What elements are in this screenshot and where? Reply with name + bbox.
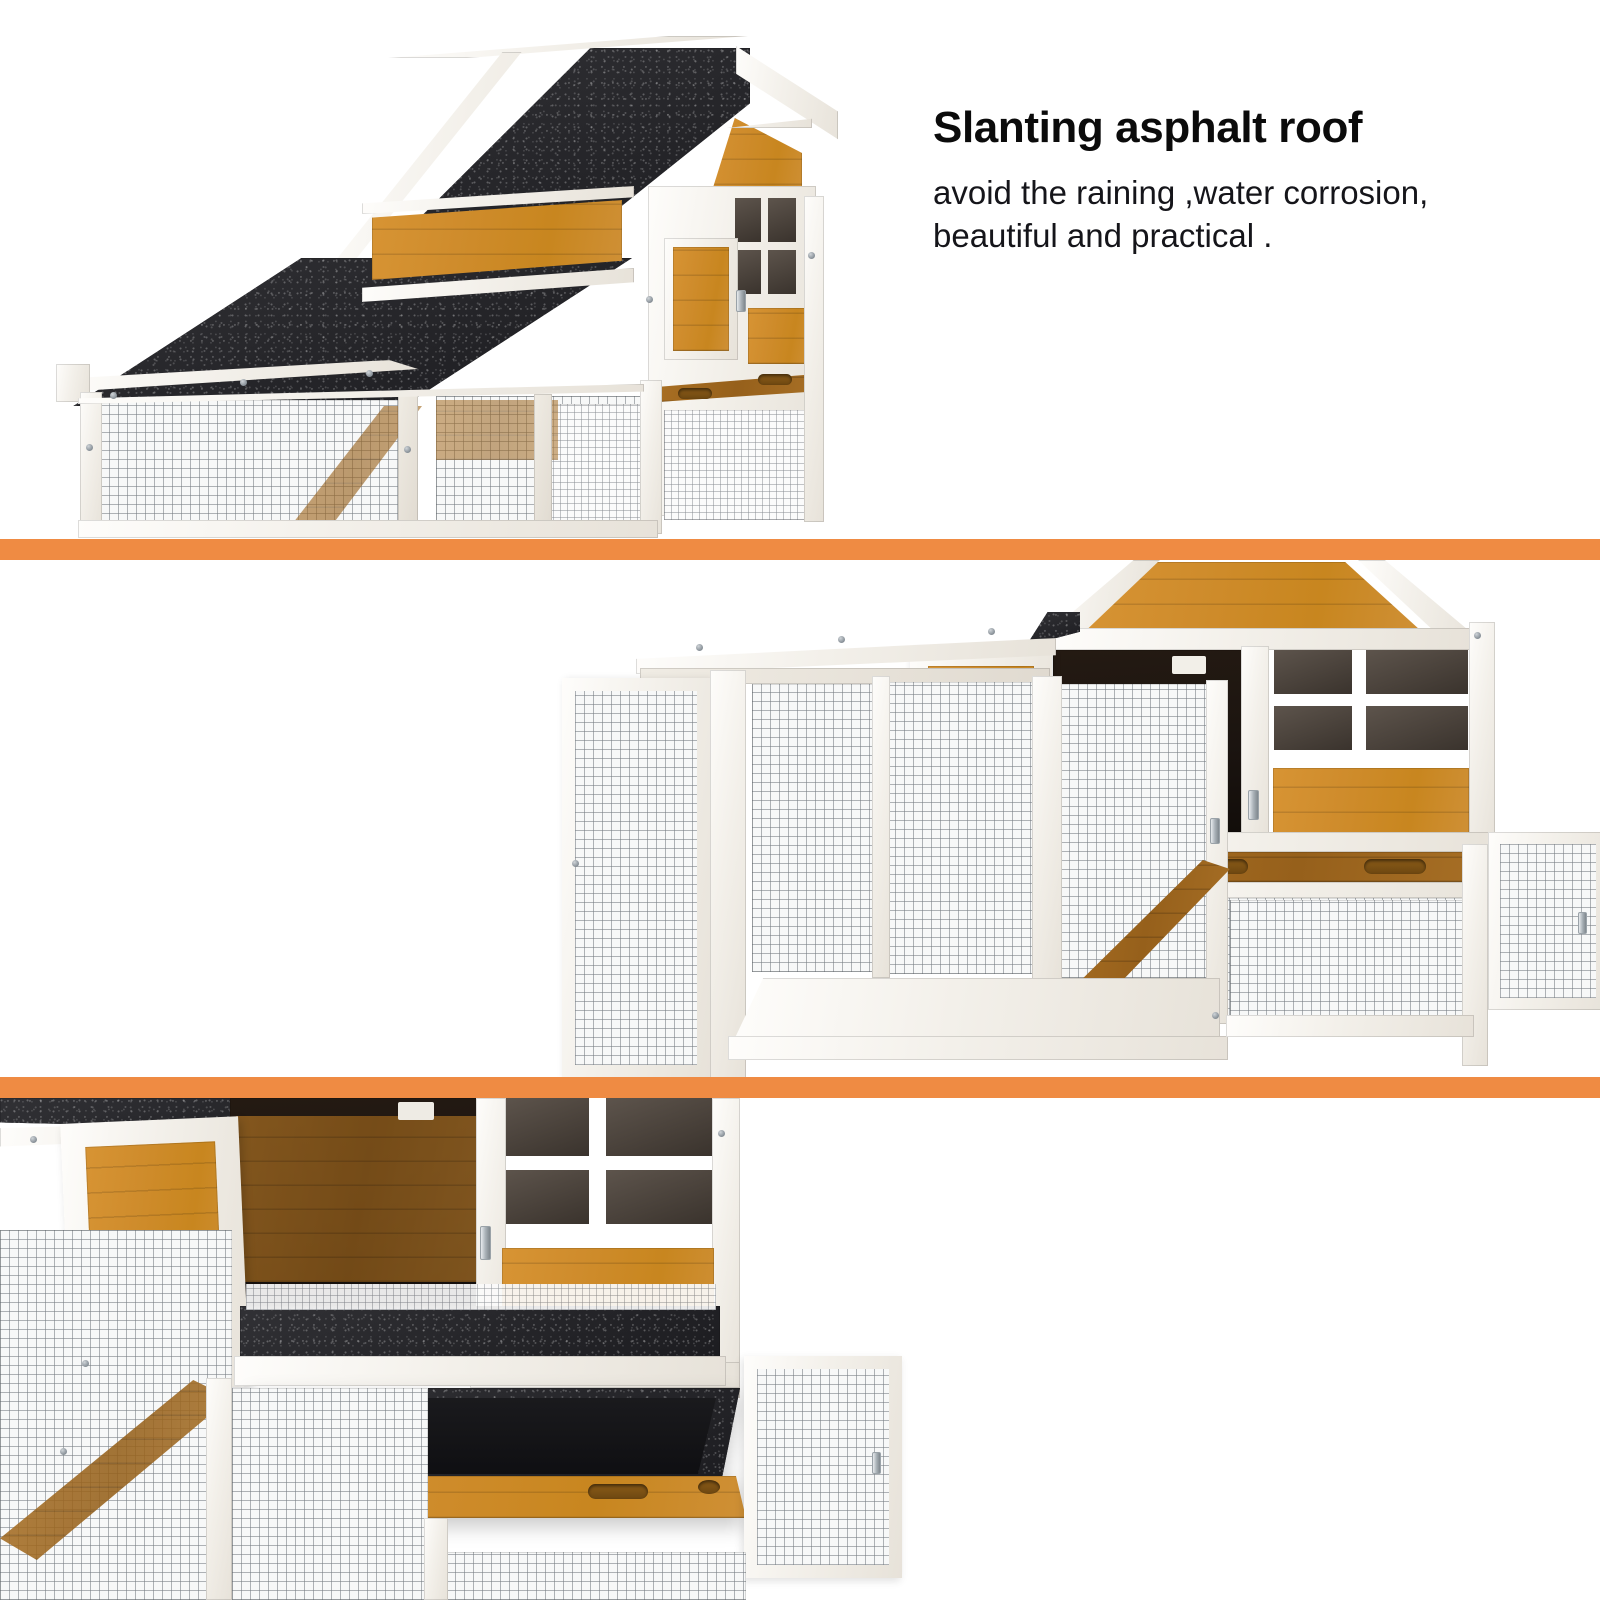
run-post-1 <box>872 676 890 978</box>
side-door-latch-icon[interactable] <box>1578 912 1587 934</box>
interior-back-wood <box>236 1116 486 1282</box>
run-door-latch-icon[interactable] <box>1210 818 1220 844</box>
right-run-base <box>1226 1015 1474 1037</box>
screw-icon <box>718 1130 725 1137</box>
upper-deck-floor-rail <box>234 1356 726 1386</box>
run-bottom-rail <box>78 520 658 538</box>
side-door-latch-icon[interactable] <box>872 1452 881 1474</box>
drawer-handle-right[interactable] <box>588 1484 648 1499</box>
nesting-door-panel <box>673 247 729 351</box>
window-pane-3 <box>1274 706 1352 750</box>
run-post-mid <box>398 392 418 534</box>
door-latch-icon[interactable] <box>480 1226 491 1260</box>
upper-deck-mesh-floor <box>246 1284 716 1310</box>
drawer-handle-end[interactable] <box>698 1480 720 1494</box>
infographic-page: Slanting asphalt roof avoid the raining … <box>0 0 1600 1600</box>
window-pane-1 <box>735 198 761 242</box>
interior-white-clip <box>398 1102 434 1120</box>
run-post-2 <box>1032 676 1062 980</box>
front-lower-mesh <box>664 410 812 520</box>
screw-icon <box>838 636 845 643</box>
window-pane-2 <box>1366 650 1468 694</box>
screw-icon <box>82 1360 89 1367</box>
run-back-mesh-2 <box>886 682 1036 974</box>
run-front-mesh <box>546 404 652 532</box>
upper-drawer-handle[interactable] <box>678 388 712 399</box>
panel-1-body: avoid the raining ,water corrosion, beau… <box>933 172 1533 258</box>
run-mesh-door-open[interactable] <box>562 678 710 1077</box>
screw-icon <box>988 628 995 635</box>
window-pane-1 <box>1274 650 1352 694</box>
run-post-right <box>424 1518 448 1600</box>
screw-icon <box>404 446 411 453</box>
window-pane-2 <box>606 1098 712 1156</box>
upper-drawer-handle-2[interactable] <box>1364 859 1426 874</box>
screw-icon <box>110 392 117 399</box>
run-base-rail <box>728 1036 1228 1060</box>
panel-1-heading: Slanting asphalt roof <box>933 103 1533 152</box>
window-grid <box>500 1098 718 1238</box>
run-post-center <box>206 1378 232 1600</box>
screw-icon <box>60 1448 67 1455</box>
run-lower-mesh-right <box>446 1552 746 1600</box>
window-pane-3 <box>503 1170 589 1224</box>
screw-icon <box>240 379 247 386</box>
screw-icon <box>30 1136 37 1143</box>
window-pane-4 <box>768 250 796 294</box>
run-post-right <box>640 380 662 534</box>
window-pane-4 <box>606 1170 712 1224</box>
run-post-mid-2 <box>534 394 552 534</box>
facade-wood-panel <box>1273 768 1469 838</box>
run-post-3 <box>1206 680 1228 1024</box>
window-pane-3 <box>735 250 761 294</box>
run-mesh-door-panel <box>575 691 697 1065</box>
feature-text-asphalt-roof: Slanting asphalt roof avoid the raining … <box>933 103 1533 258</box>
run-lower-mesh-mid <box>232 1388 428 1600</box>
window-pane-1 <box>503 1098 589 1156</box>
facade-post-right <box>1469 622 1495 852</box>
screw-icon <box>808 252 815 259</box>
screw-icon <box>646 296 653 303</box>
facade-post-right <box>804 196 824 522</box>
feature-panel-upper-lower-space: Upper and lower space live more comforta… <box>0 560 1600 1077</box>
feature-panel-pullzinc-drawer: Double-deck pullzinc drawer blowout prev… <box>0 1098 1600 1600</box>
window-pane-4 <box>1366 706 1468 750</box>
section-divider-1 <box>0 539 1600 560</box>
product-photo-panel-1 <box>0 0 920 539</box>
run-mesh-door-edge <box>710 670 746 1077</box>
nesting-door[interactable] <box>664 238 738 360</box>
screw-icon <box>86 444 93 451</box>
run-post-left <box>80 392 102 534</box>
door-latch-icon[interactable] <box>1248 790 1259 820</box>
door-latch-icon[interactable] <box>736 290 746 312</box>
screw-icon <box>572 860 579 867</box>
run-side-door-panel <box>757 1369 889 1565</box>
window-grid <box>734 196 798 300</box>
run-floor <box>734 978 1220 1040</box>
window-pane-2 <box>768 198 796 242</box>
upper-tray-slot <box>240 1306 720 1358</box>
screw-icon <box>1212 1012 1219 1019</box>
interior-white-clip <box>1172 656 1206 674</box>
screw-icon <box>696 644 703 651</box>
product-photo-panel-3 <box>0 1098 940 1600</box>
screw-icon <box>366 370 373 377</box>
upper-drawer-handle-2[interactable] <box>758 374 792 385</box>
window-grid <box>1272 648 1470 754</box>
facade-wood-panel <box>748 308 810 364</box>
screw-icon <box>1474 632 1481 639</box>
right-run-mesh <box>1230 900 1466 1020</box>
run-back-mesh-1 <box>752 684 874 972</box>
product-photo-panel-2 <box>520 560 1600 1077</box>
feature-panel-asphalt-roof: Slanting asphalt roof avoid the raining … <box>0 0 1600 539</box>
section-divider-2 <box>0 1077 1600 1098</box>
